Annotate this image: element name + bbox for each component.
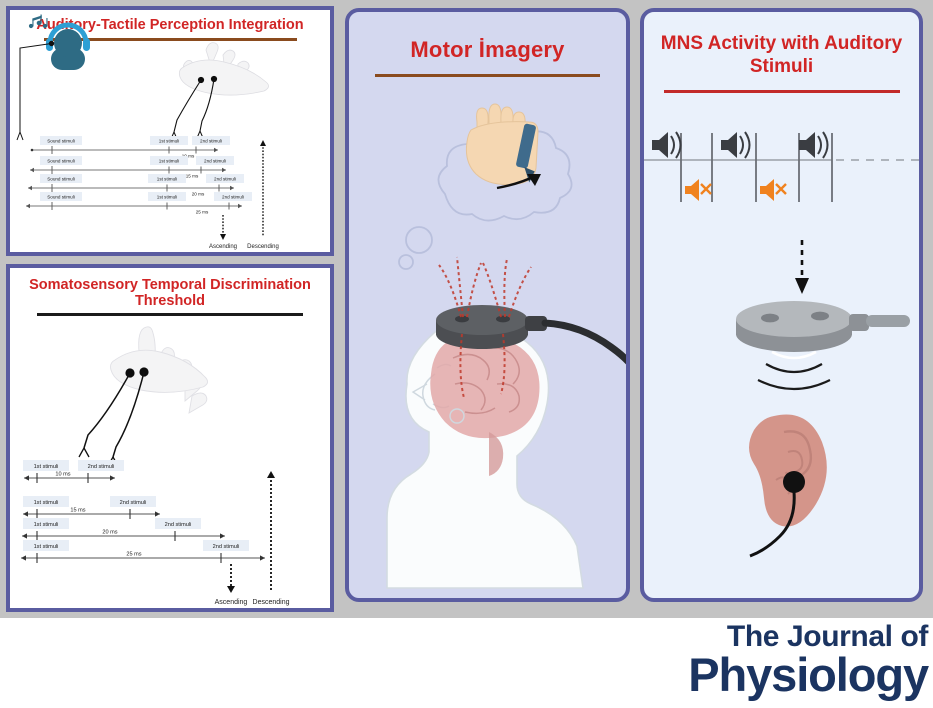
speaker-on-icon	[652, 132, 681, 158]
timeline-row: 1st stimuli 2nd stimuli 15 ms	[23, 496, 160, 519]
panel-auditory-tactile: Auditory-Tactile Perception Integration	[6, 6, 334, 256]
interval-label: 25 ms	[126, 552, 141, 558]
timeline-row: 1st stimuli 2nd stimuli 20 ms	[22, 518, 225, 541]
dashed-down-arrow-icon	[795, 240, 809, 294]
descending-arrow-icon	[267, 471, 275, 590]
speaker-muted-icon	[685, 179, 711, 201]
person-with-headphones-icon	[46, 25, 90, 70]
mns-activity-diagram	[644, 12, 919, 598]
second-stimuli-label: 2nd stimuli	[165, 522, 192, 528]
second-stimuli-label: 2nd stimuli	[214, 176, 236, 181]
timeline-row: 1st stimuli 2nd stimuli 25 ms	[21, 540, 265, 563]
ascending-label: Ascending	[215, 599, 248, 606]
sound-stimuli-label: Sound stimuli	[47, 158, 75, 163]
auditory-tactile-diagram: Sound stimuli 1st stimuli 2nd stimuli 10…	[10, 10, 330, 252]
speaker-on-icon	[799, 132, 828, 158]
timeline-row: Sound stimuli 1st stimuli 2nd stimuli 25…	[26, 192, 252, 215]
journal-logo: The Journal of Physiology	[612, 622, 928, 704]
sound-stimuli-label: Sound stimuli	[47, 138, 75, 143]
sound-stimuli-label: Sound stimuli	[47, 176, 75, 181]
stdt-diagram: 1st stimuli 2nd stimuli 10 ms 1st stimul…	[10, 268, 330, 608]
first-stimuli-label: 1st stimuli	[34, 544, 59, 550]
sound-lead-wire	[17, 41, 54, 140]
interval-label: 10 ms	[55, 472, 70, 478]
second-stimuli-label: 2nd stimuli	[88, 464, 115, 470]
speaker-muted-icon	[760, 179, 786, 201]
magnetic-wave-icon	[758, 352, 830, 389]
tms-coil-icon	[736, 301, 910, 352]
first-stimuli-label: 1st stimuli	[34, 500, 59, 506]
interval-label: 15 ms	[70, 508, 85, 514]
interval-label: 25 ms	[196, 210, 209, 215]
second-stimuli-label: 2nd stimuli	[222, 194, 244, 199]
hand-with-electrodes-icon	[171, 43, 269, 139]
timeline-row: 1st stimuli 2nd stimuli 10 ms	[23, 460, 124, 483]
head-profile-with-brain-icon	[387, 257, 626, 588]
first-stimuli-label: 1st stimuli	[34, 464, 59, 470]
interval-label: 20 ms	[102, 530, 117, 536]
second-stimuli-label: 2nd stimuli	[200, 138, 222, 143]
music-notes-icon	[29, 15, 48, 29]
journal-logo-line2: Physiology	[612, 651, 928, 699]
descending-arrow-icon	[260, 140, 266, 236]
first-stimuli-label: 1st stimuli	[159, 158, 179, 163]
second-stimuli-label: 2nd stimuli	[204, 158, 226, 163]
second-stimuli-label: 2nd stimuli	[213, 544, 240, 550]
panel-mns-activity: MNS Activity with Auditory Stimuli	[640, 8, 923, 602]
speaker-on-icon	[721, 132, 750, 158]
hand-with-electrodes-icon	[79, 327, 208, 466]
first-stimuli-label: 1st stimuli	[157, 176, 177, 181]
panel-motor-imagery: Motor İmagery	[345, 8, 630, 602]
second-stimuli-label: 2nd stimuli	[120, 500, 147, 506]
interval-label: 15 ms	[186, 174, 199, 179]
ascending-arrow-icon	[227, 564, 235, 593]
sound-stimuli-label: Sound stimuli	[47, 194, 75, 199]
ascending-label: Ascending	[209, 244, 237, 250]
earphone-icon	[783, 471, 805, 493]
ascending-arrow-icon	[220, 215, 226, 240]
panel-stdt: Somatosensory Temporal Discrimination Th…	[6, 264, 334, 612]
motor-imagery-diagram	[349, 12, 626, 598]
first-stimuli-label: 1st stimuli	[34, 522, 59, 528]
descending-label: Descending	[247, 244, 279, 250]
ear-with-earphone-icon	[749, 414, 827, 556]
first-stimuli-label: 1st stimuli	[157, 194, 177, 199]
first-stimuli-label: 1st stimuli	[159, 138, 179, 143]
descending-label: Descending	[253, 599, 290, 606]
hand-holding-pen-icon	[466, 104, 541, 188]
interval-label: 20 ms	[192, 192, 205, 197]
timeline-row: Sound stimuli 1st stimuli 2nd stimuli 10…	[31, 136, 230, 159]
figure-root: Auditory-Tactile Perception Integration	[0, 0, 933, 708]
